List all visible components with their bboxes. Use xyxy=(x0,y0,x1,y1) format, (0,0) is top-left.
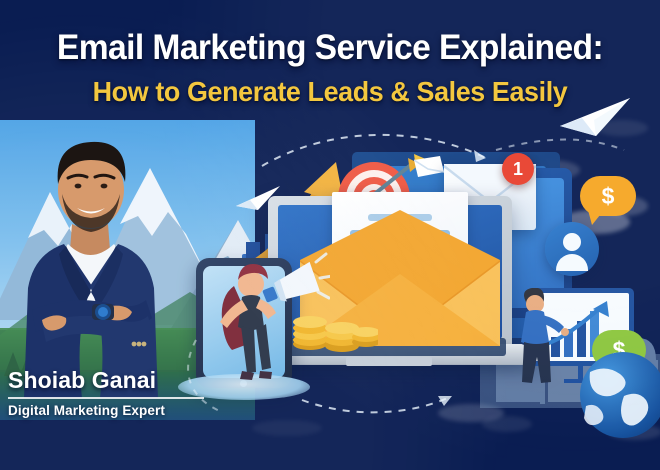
presenter-photo xyxy=(6,128,176,398)
presenter-name-block: Shoiab Ganai Digital Marketing Expert xyxy=(8,367,223,418)
presenter-name: Shoiab Ganai xyxy=(8,367,223,394)
headline-line-1: Email Marketing Service Explained: xyxy=(13,30,647,67)
name-divider xyxy=(8,397,204,399)
headline-line-2: How to Generate Leads & Sales Easily xyxy=(13,76,647,108)
youtube-thumbnail: 1 xyxy=(0,0,660,470)
headline-block: Email Marketing Service Explained: How t… xyxy=(0,30,660,108)
presenter-role: Digital Marketing Expert xyxy=(8,403,223,418)
